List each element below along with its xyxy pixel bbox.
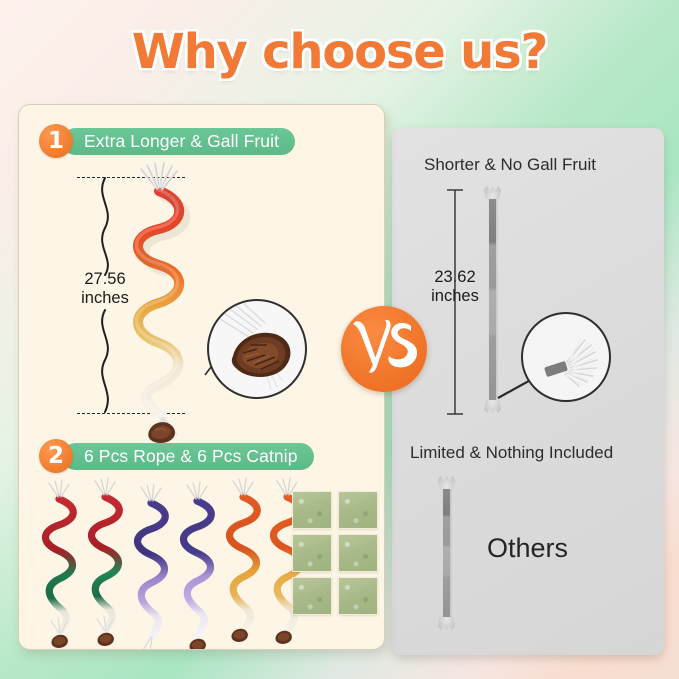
competitor-top-heading: Shorter & No Gall Fruit (424, 155, 596, 175)
catnip-square (338, 534, 378, 572)
competitor-others-bottom-tuft (438, 617, 455, 630)
catnip-square (292, 577, 332, 615)
feature-2-number: 2 (39, 439, 73, 473)
page-title-container: Why choose us? (0, 24, 679, 80)
measure-guide-top (77, 177, 185, 178)
catnip-square (338, 577, 378, 615)
feature-2-label: 6 Pcs Rope & 6 Pcs Catnip (62, 443, 314, 470)
versus-badge (341, 306, 427, 392)
measure-guide-bottom (77, 413, 185, 414)
competitor-others-top-tuft (438, 476, 455, 489)
competitor-bottom-heading: Limited & Nothing Included (410, 443, 613, 463)
versus-text-mark (341, 306, 427, 392)
competitor-measurement-value: 23.62 (416, 268, 494, 287)
feature-1-number: 1 (39, 124, 73, 158)
competitor-others-label: Others (487, 533, 568, 564)
competitor-stick-bottom-tuft (484, 400, 501, 413)
catnip-grid (292, 491, 384, 616)
page-title: Why choose us? (132, 24, 547, 80)
infographic-root: Why choose us? Shorter & No Gall Fruit 2… (0, 0, 679, 679)
ours-measurement: 27.56 inches (61, 270, 149, 308)
competitor-measurement: 23.62 inches (416, 268, 494, 306)
competitor-measurement-unit: inches (416, 287, 494, 306)
competitor-others-stick (443, 484, 450, 622)
ours-measurement-value: 27.56 (61, 270, 149, 289)
ours-panel: 1 Extra Longer & Gall Fruit 27.56 inches (18, 104, 385, 650)
catnip-square (292, 534, 332, 572)
competitor-panel (392, 128, 664, 655)
catnip-square (338, 491, 378, 529)
feature-1-label: Extra Longer & Gall Fruit (62, 128, 295, 155)
gall-fruit-magnifier-circle (207, 299, 307, 399)
competitor-toy-stick (489, 196, 496, 404)
competitor-stick-top-tuft (484, 186, 501, 199)
catnip-square (292, 491, 332, 529)
feature-2-badge: 2 6 Pcs Rope & 6 Pcs Catnip (39, 439, 314, 473)
competitor-magnifier-circle (521, 312, 611, 402)
ours-measurement-unit: inches (61, 289, 149, 308)
feature-1-badge: 1 Extra Longer & Gall Fruit (39, 124, 295, 158)
